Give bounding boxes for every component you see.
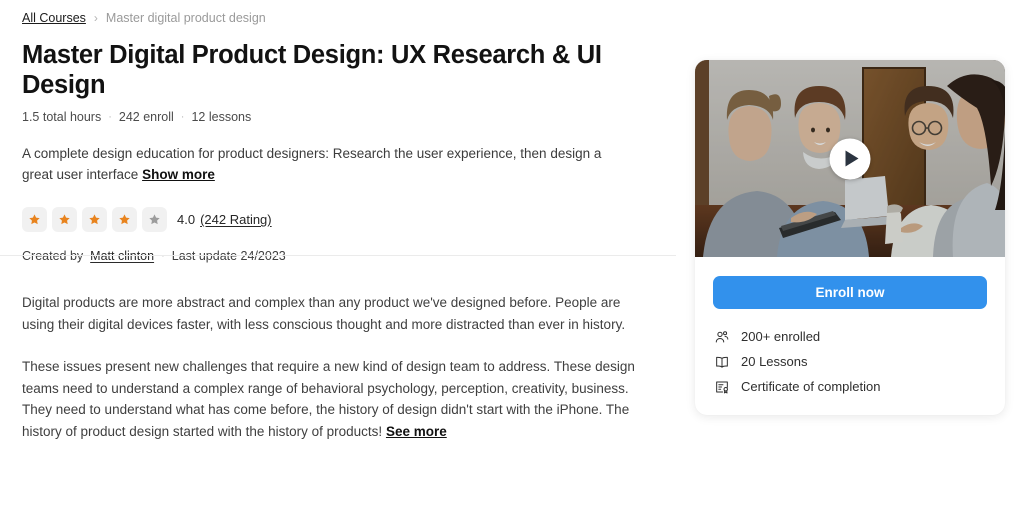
feature-enrolled: 200+ enrolled [713, 328, 987, 345]
page-title: Master Digital Product Design: UX Resear… [22, 40, 662, 100]
course-header-column: All Courses › Master digital product des… [22, 0, 662, 263]
play-icon[interactable] [830, 138, 871, 179]
course-blurb: A complete design education for product … [22, 143, 622, 185]
enrollment-card-body: Enroll now 200+ enrolled [695, 257, 1005, 415]
feature-certificate: Certificate of completion [713, 378, 987, 395]
feature-lessons: 20 Lessons [713, 353, 987, 370]
course-video-thumbnail[interactable] [695, 60, 1005, 257]
meta-separator: · [108, 111, 112, 123]
meta-duration: 1.5 total hours [22, 110, 101, 124]
author-separator: · [161, 250, 165, 262]
breadcrumb: All Courses › Master digital product des… [22, 0, 662, 26]
people-icon [713, 328, 730, 345]
meta-lesson-count: 12 lessons [191, 110, 251, 124]
show-more-link[interactable]: Show more [142, 167, 215, 182]
feature-label: 200+ enrolled [741, 329, 820, 344]
star-icon-4[interactable] [112, 207, 137, 232]
feature-label: 20 Lessons [741, 354, 808, 369]
breadcrumb-current: Master digital product design [106, 10, 266, 26]
author-row: Created by Matt clinton · Last update 24… [22, 249, 662, 263]
star-icon-2[interactable] [52, 207, 77, 232]
feature-label: Certificate of completion [741, 379, 880, 394]
rating-count-link[interactable]: (242 Rating) [200, 212, 272, 227]
course-meta: 1.5 total hours · 242 enroll · 12 lesson… [22, 110, 662, 124]
course-detail-page: All Courses › Master digital product des… [0, 0, 1024, 512]
course-description: Digital products are more abstract and c… [22, 292, 650, 442]
rating-row: 4.0 (242 Rating) [22, 207, 662, 232]
star-icon-1[interactable] [22, 207, 47, 232]
book-icon [713, 353, 730, 370]
course-features: 200+ enrolled 20 Lessons [713, 328, 987, 395]
star-icon-3[interactable] [82, 207, 107, 232]
chevron-right-icon: › [94, 10, 98, 26]
rating-summary: 4.0 (242 Rating) [177, 212, 272, 227]
star-icon-5-empty[interactable] [142, 207, 167, 232]
star-rating[interactable] [22, 207, 167, 232]
description-paragraph-2-wrap: These issues present new challenges that… [22, 356, 650, 442]
meta-separator: · [181, 111, 185, 123]
section-divider [0, 255, 676, 256]
enroll-now-button[interactable]: Enroll now [713, 276, 987, 309]
see-more-link[interactable]: See more [386, 424, 447, 439]
meta-enroll-count: 242 enroll [119, 110, 174, 124]
rating-score: 4.0 [177, 212, 195, 227]
course-blurb-text: A complete design education for product … [22, 146, 601, 182]
created-by-label: Created by [22, 249, 83, 263]
certificate-icon [713, 378, 730, 395]
description-paragraph-2: These issues present new challenges that… [22, 359, 635, 439]
enrollment-card: Enroll now 200+ enrolled [695, 60, 1005, 415]
description-paragraph-1: Digital products are more abstract and c… [22, 292, 650, 335]
last-update-label: Last update 24/2023 [172, 249, 286, 263]
breadcrumb-link-all-courses[interactable]: All Courses [22, 10, 86, 26]
play-triangle [846, 151, 859, 167]
author-link[interactable]: Matt clinton [90, 249, 154, 263]
